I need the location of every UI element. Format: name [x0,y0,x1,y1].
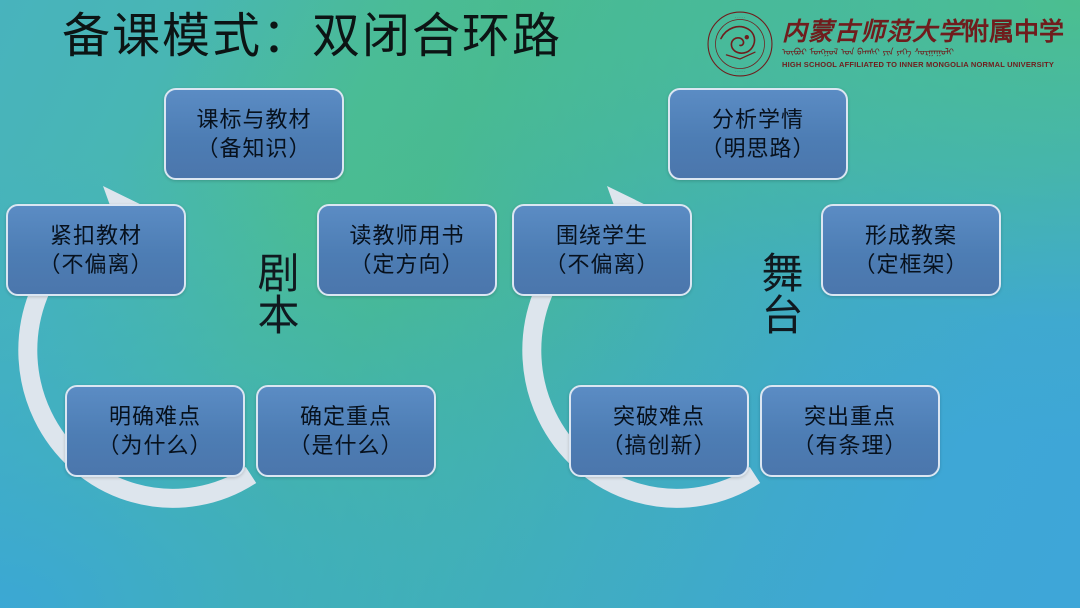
node-line-1: 分析学情 [712,105,804,134]
school-emblem-icon: · · · · · · · · · · [706,10,774,78]
node-line-1: 突出重点 [804,402,896,431]
node-line-1: 突破难点 [613,402,705,431]
node-bottom-left-left-cycle[interactable]: 明确难点 （为什么） [65,385,245,477]
cycle-diagram-right: 舞台 分析学情 （明思路） 围绕学生 （不偏离） 形成教案 （定框架） 突破难点… [508,88,1008,498]
svg-text:· · · · ·: · · · · · [735,16,744,20]
page-title: 备课模式：双闭合环路 [62,8,562,66]
cycle-diagram-left: 剧本 课标与教材 （备知识） 紧扣教材 （不偏离） 读教师用书 （定方向） 明确… [4,88,504,498]
logo-mongolian-name: ᠥᠪᠥᠷ ᠮᠣᠩᠭᠣᠯ ᠤᠨ ᠪᠠᠭᠰᠢ ᠶᠢᠨ ᠶᠡᠬᠡ ᠰᠤᠷᠭᠠᠭᠤᠯᠢ [782,49,954,58]
node-line-2: （定方向） [349,250,464,279]
node-line-1: 围绕学生 [556,221,648,250]
node-top-right-cycle[interactable]: 分析学情 （明思路） [668,88,848,180]
school-logo: · · · · · · · · · · 内蒙古师范大学附属中学 ᠥᠪᠥᠷ ᠮᠣᠩ… [706,10,1064,78]
node-line-2: （不偏离） [544,250,659,279]
node-line-2: （定框架） [853,250,968,279]
node-line-2: （备知识） [196,134,311,163]
node-line-1: 明确难点 [109,402,201,431]
node-line-1: 紧扣教材 [50,221,142,250]
node-right-right-cycle[interactable]: 形成教案 （定框架） [821,204,1001,296]
node-line-2: （为什么） [97,431,212,460]
node-bottom-right-right-cycle[interactable]: 突出重点 （有条理） [760,385,940,477]
node-line-1: 读教师用书 [349,221,464,250]
cycle-center-label-right: 舞台 [716,208,800,378]
node-right-left-cycle[interactable]: 读教师用书 （定方向） [317,204,497,296]
node-line-1: 确定重点 [300,402,392,431]
node-left-left-cycle[interactable]: 紧扣教材 （不偏离） [6,204,186,296]
cycle-center-label-left: 剧本 [212,208,296,378]
node-line-2: （明思路） [700,134,815,163]
node-top-left-cycle[interactable]: 课标与教材 （备知识） [164,88,344,180]
node-left-right-cycle[interactable]: 围绕学生 （不偏离） [512,204,692,296]
slide-canvas: 备课模式：双闭合环路 · · · · · · · · · · 内蒙古师范大学附属… [0,0,1080,608]
node-line-1: 形成教案 [865,221,957,250]
node-line-2: （是什么） [288,431,403,460]
logo-text-block: 内蒙古师范大学附属中学 ᠥᠪᠥᠷ ᠮᠣᠩᠭᠣᠯ ᠤᠨ ᠪᠠᠭᠰᠢ ᠶᠢᠨ ᠶᠡᠬ… [782,20,1064,69]
logo-english-name: HIGH SCHOOL AFFILIATED TO INNER MONGOLIA… [782,61,1054,69]
logo-chinese-name: 内蒙古师范大学附属中学 [782,20,1064,45]
node-line-1: 课标与教材 [196,105,311,134]
node-bottom-right-left-cycle[interactable]: 确定重点 （是什么） [256,385,436,477]
node-line-2: （不偏离） [38,250,153,279]
node-line-2: （搞创新） [601,431,716,460]
node-bottom-left-right-cycle[interactable]: 突破难点 （搞创新） [569,385,749,477]
svg-text:· · · · ·: · · · · · [735,70,744,74]
node-line-2: （有条理） [792,431,907,460]
